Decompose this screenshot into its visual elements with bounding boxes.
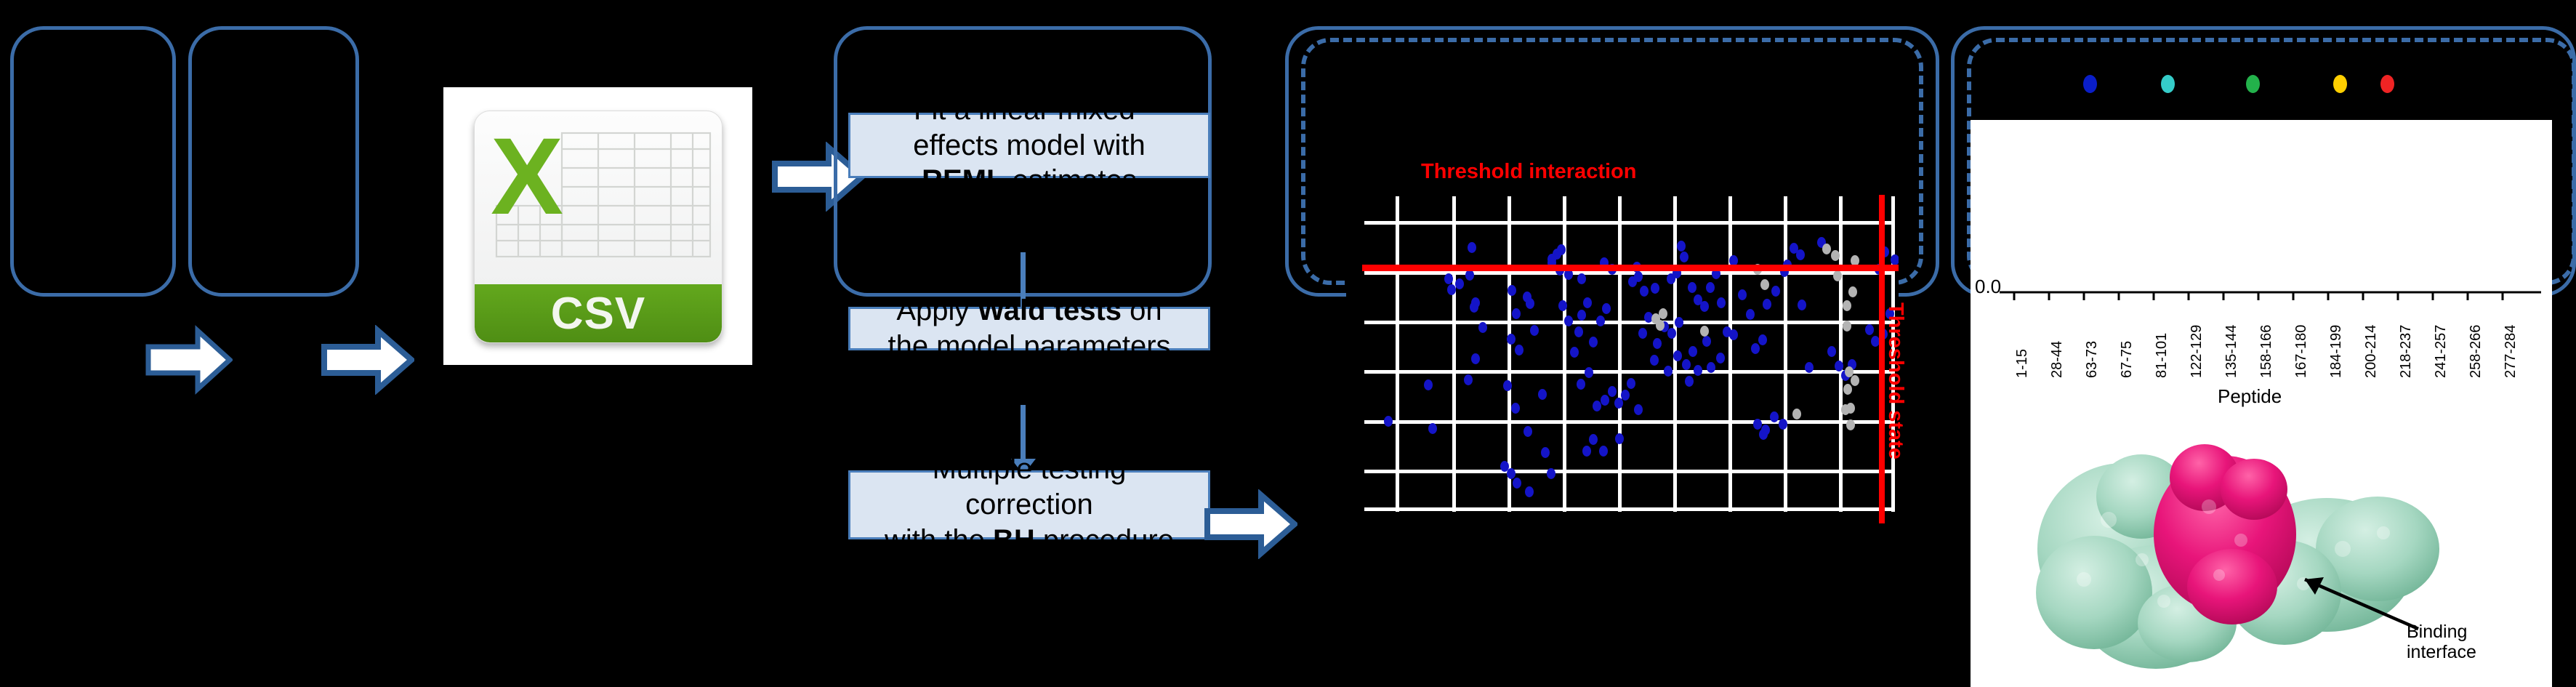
scatter-point — [1685, 376, 1694, 387]
scatter-point — [1464, 374, 1473, 385]
peptide-tick-label: 1-15 — [2014, 349, 2031, 378]
peptide-tick-label: 218-237 — [2398, 325, 2415, 378]
scatter-point — [1447, 284, 1456, 295]
peptide-tick-label: 258-266 — [2468, 325, 2484, 378]
scatter-point — [1689, 346, 1697, 357]
scatter-point — [1574, 326, 1583, 337]
step-mt-line1: Multiple testing — [933, 453, 1127, 485]
scatter-point — [1680, 252, 1689, 262]
scatter-point — [1688, 282, 1696, 293]
scatter-point — [1761, 425, 1770, 435]
scatter-point — [1585, 367, 1593, 378]
grid-v — [1839, 196, 1843, 512]
grid-h — [1364, 271, 1895, 275]
scatter-point — [1513, 478, 1521, 489]
step-fit-model-line2: effects model with — [913, 129, 1145, 161]
arrow-into-stage1 — [145, 325, 233, 395]
scatter-point — [1707, 362, 1715, 373]
scatter-plot — [1346, 193, 1899, 528]
binding-interface-line2: interface — [2407, 642, 2476, 662]
scatter-point — [1653, 338, 1662, 349]
scatter-point — [1547, 468, 1555, 479]
grid-v — [1728, 196, 1732, 512]
scatter-point — [1583, 297, 1592, 308]
scatter-point — [1455, 278, 1464, 289]
scatter-point — [1891, 254, 1899, 265]
step-mt-bold: BH — [993, 524, 1035, 556]
scatter-point — [1638, 328, 1647, 339]
grid-v — [1563, 196, 1566, 512]
step-fit-model-line1: Fit a linear mixed- — [914, 94, 1145, 126]
empty-stage-panel — [10, 26, 176, 297]
legend-dot-cyan — [2161, 75, 2175, 93]
scatter-point — [1779, 419, 1787, 430]
step-wald-pre: Apply — [896, 294, 977, 326]
scatter-point — [1608, 386, 1617, 397]
scatter-point — [1577, 379, 1585, 390]
scatter-point — [1650, 355, 1659, 366]
csv-caption-text: CSV — [551, 288, 645, 340]
scatter-point — [1577, 273, 1586, 284]
scatter-point — [1424, 379, 1433, 390]
scatter-point — [1673, 350, 1682, 361]
scatter-point — [1763, 299, 1771, 310]
scatter-point — [1700, 301, 1709, 312]
scatter-point — [1530, 325, 1539, 336]
scatter-point — [1771, 286, 1780, 297]
scatter-point — [1664, 366, 1673, 377]
step-mt-pre: with the — [885, 524, 993, 556]
peptide-tick-label: 184-199 — [2328, 325, 2345, 378]
peptide-tick-label: 63-73 — [2084, 341, 2101, 378]
grid-h — [1364, 321, 1895, 324]
scatter-point — [1675, 317, 1683, 328]
scatter-point — [1511, 403, 1520, 414]
scatter-point-grey — [1843, 321, 1851, 332]
scatter-point-grey — [1848, 286, 1857, 297]
threshold-interaction-line — [1362, 265, 1899, 271]
scatter-point — [1557, 244, 1566, 255]
grid-h — [1364, 221, 1895, 225]
scatter-point — [1526, 298, 1534, 309]
grid-v — [1618, 196, 1622, 512]
peptide-tick-label: 167-180 — [2293, 325, 2310, 378]
scatter-point — [1751, 343, 1760, 354]
arrow-stage1-to-csv — [320, 325, 414, 395]
scatter-point-grey — [1831, 250, 1840, 261]
scatter-point-grey — [1792, 409, 1801, 419]
scatter-point — [1746, 309, 1755, 320]
scatter-point — [1667, 328, 1676, 339]
scatter-point — [1524, 426, 1532, 437]
scatter-point — [1564, 316, 1573, 326]
peptide-inset-figure: 0.0 1-1528-4463-7367-7581-101122-129135-… — [1971, 120, 2552, 687]
scatter-point — [1541, 447, 1550, 458]
scatter-point — [1507, 334, 1516, 345]
scatter-point — [1615, 433, 1624, 444]
csv-badge: X CSV — [474, 111, 723, 343]
scatter-point — [1717, 297, 1726, 308]
grid-v — [1784, 196, 1787, 512]
scatter-point — [1538, 389, 1547, 400]
peptide-x-axis — [1992, 290, 2552, 305]
step-wald-line2: the model parameters — [887, 330, 1170, 362]
scatter-point — [1593, 401, 1601, 411]
scatter-point — [1384, 416, 1393, 427]
scatter-point — [1471, 353, 1480, 364]
scatter-point — [1558, 300, 1567, 311]
scatter-point — [1621, 390, 1630, 401]
scatter-point — [1508, 285, 1516, 296]
scatter-point-grey — [1846, 419, 1855, 430]
scatter-point — [1770, 411, 1779, 422]
scatter-point-grey — [1846, 403, 1855, 414]
scatter-point — [1651, 283, 1659, 294]
peptide-tick-label: 81-101 — [2154, 333, 2170, 378]
scatter-point — [1835, 361, 1843, 371]
scatter-point — [1694, 365, 1702, 376]
scatter-point — [1627, 378, 1635, 389]
peptide-tick-label: 200-214 — [2363, 325, 2380, 378]
legend-dot-dark-blue — [2083, 75, 2097, 93]
scatter-point — [1601, 395, 1609, 406]
scatter-point — [1865, 324, 1874, 335]
binding-interface-label: Binding interface — [2407, 622, 2476, 662]
scatter-point-grey — [1760, 279, 1769, 290]
scatter-point — [1677, 241, 1686, 252]
binding-interface-line1: Binding — [2407, 622, 2467, 642]
workflow-figure: X CSV Fit a linear mixed- effects model … — [0, 0, 2576, 687]
grid-h — [1364, 507, 1895, 511]
scatter-point — [1570, 347, 1579, 358]
step-multiple-testing[interactable]: Multiple testing correction with the BH … — [848, 470, 1210, 539]
csv-file-icon: X CSV — [443, 87, 752, 365]
peptide-tick-label: 158-166 — [2258, 325, 2275, 378]
scatter-point — [1805, 362, 1814, 373]
step-mt-post: procedure — [1035, 524, 1174, 556]
step-fit-model-bold: REML — [922, 164, 1004, 196]
grid-h — [1364, 470, 1895, 473]
scatter-point — [1525, 486, 1534, 497]
scatter-point — [1634, 271, 1643, 282]
scatter-point — [1444, 273, 1453, 284]
scatter-point — [1599, 446, 1608, 457]
csv-input-panel — [188, 26, 359, 297]
scatter-point — [1428, 423, 1437, 434]
threshold-interaction-label: Threshold interaction — [1421, 160, 1636, 184]
scatter-point — [1507, 468, 1516, 479]
scatter-point — [1503, 380, 1512, 391]
grid-v — [1396, 196, 1399, 512]
scatter-point-grey — [1851, 375, 1859, 386]
grid-h — [1364, 370, 1895, 374]
step-fit-model-line3: estimates — [1005, 164, 1137, 196]
step-wald-bold: Wald tests — [978, 294, 1122, 326]
scatter-point — [1738, 289, 1747, 300]
peptide-tick-label: 122-129 — [2189, 325, 2205, 378]
legend-dot-red — [2380, 75, 2394, 93]
legend-dot-yellow — [2333, 75, 2347, 93]
grid-v — [1452, 196, 1456, 512]
scatter-point — [1827, 346, 1836, 357]
scatter-point — [1758, 334, 1767, 345]
scatter-point — [1682, 359, 1691, 370]
scatter-point — [1589, 337, 1598, 347]
scatter-point — [1596, 316, 1605, 326]
csv-caption-bar: CSV — [475, 284, 722, 342]
scatter-point — [1729, 329, 1738, 340]
scatter-point — [1602, 303, 1611, 314]
scatter-point — [1582, 446, 1591, 457]
scatter-point — [1577, 310, 1586, 321]
scatter-point-grey — [1843, 300, 1851, 311]
scatter-point-grey — [1651, 313, 1660, 324]
csv-x-letter: X — [491, 121, 563, 230]
scatter-point-grey — [1833, 270, 1842, 281]
scatter-point-grey — [1822, 244, 1831, 254]
arrow-steps-to-scatter — [1203, 489, 1297, 559]
scatter-point — [1706, 282, 1715, 293]
peptide-tick-label: 241-257 — [2433, 325, 2450, 378]
scatter-point — [1716, 353, 1725, 363]
grid-h — [1364, 420, 1895, 424]
scatter-point — [1465, 270, 1474, 281]
legend-dot-green — [2246, 75, 2260, 93]
step-wald-post: on — [1122, 294, 1162, 326]
scatter-point — [1634, 404, 1643, 415]
scatter-point — [1468, 242, 1476, 253]
scatter-point — [1702, 336, 1711, 347]
threshold-state-label: Threshold state — [1883, 302, 1907, 459]
peptide-tick-label: 135-144 — [2223, 325, 2240, 378]
step-fit-model[interactable]: Fit a linear mixed- effects model with R… — [848, 113, 1210, 178]
scatter-point — [1798, 300, 1806, 310]
peptide-axis-title: Peptide — [2218, 385, 2282, 408]
scatter-point-grey — [1700, 326, 1709, 337]
peptide-tick-label: 67-75 — [2119, 341, 2136, 378]
scatter-point — [1547, 254, 1556, 265]
scatter-point-grey — [1843, 384, 1852, 395]
scatter-point — [1796, 249, 1805, 260]
scatter-point — [1640, 286, 1649, 297]
step-mt-line2: correction — [965, 489, 1093, 521]
peptide-tick-label: 28-44 — [2049, 341, 2066, 378]
scatter-point — [1471, 297, 1480, 308]
peptide-tick-label: 277-284 — [2503, 325, 2519, 378]
scatter-point — [1478, 322, 1487, 333]
scatter-point — [1515, 345, 1524, 355]
scatter-point — [1512, 308, 1521, 319]
scatter-point — [1589, 434, 1598, 445]
step-wald-tests[interactable]: Apply Wald tests on the model parameters — [848, 307, 1210, 350]
